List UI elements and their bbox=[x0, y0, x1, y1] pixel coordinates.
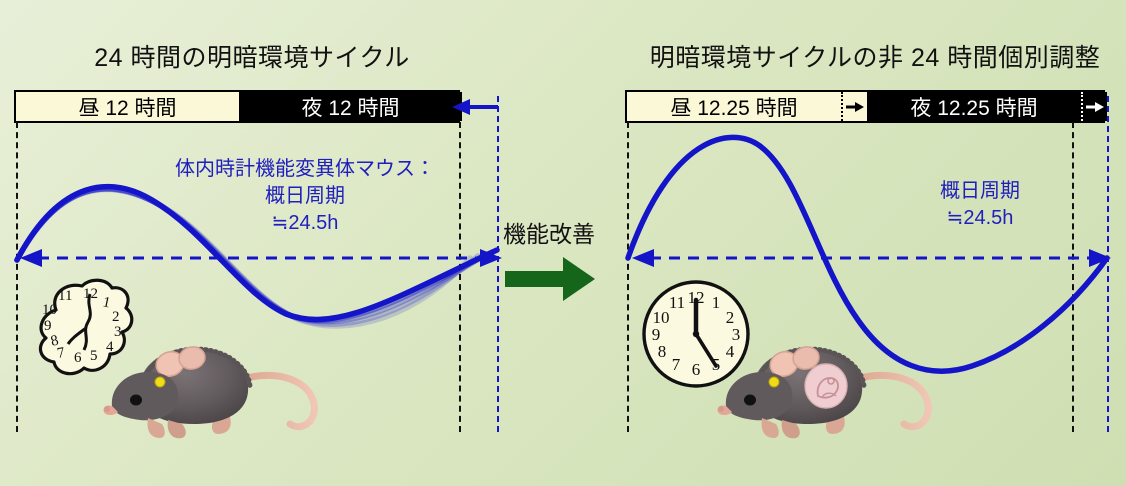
svg-text:9: 9 bbox=[44, 318, 52, 334]
right-light-dark-bar: 昼 12.25 時間 夜 12.25 時間 bbox=[625, 90, 1105, 123]
right-bar-day-end-arrow-icon bbox=[845, 101, 865, 113]
svg-text:11: 11 bbox=[669, 293, 685, 312]
right-bar-day-segment: 昼 12.25 時間 bbox=[627, 92, 867, 121]
left-bar-end-arrow-icon bbox=[450, 96, 502, 118]
svg-text:8: 8 bbox=[658, 342, 667, 361]
svg-text:9: 9 bbox=[652, 325, 661, 344]
left-period-arrow bbox=[10, 246, 510, 270]
improvement-arrow-icon bbox=[505, 255, 597, 303]
diagram-canvas: 24 時間の明暗環境サイクル 昼 12 時間 夜 12 時間 bbox=[0, 0, 1126, 486]
right-period-arrow bbox=[622, 246, 1122, 270]
left-annotation: 体内時計機能変異体マウス： 概日周期 ≒24.5h bbox=[160, 156, 450, 237]
svg-text:1: 1 bbox=[712, 293, 721, 312]
right-bar-day-label: 昼 12.25 時間 bbox=[670, 92, 797, 122]
left-annotation-line3: ≒24.5h bbox=[160, 210, 450, 237]
left-light-dark-bar: 昼 12 時間 夜 12 時間 bbox=[14, 90, 460, 123]
svg-text:6: 6 bbox=[692, 360, 701, 379]
left-bar-day-label: 昼 12 時間 bbox=[78, 92, 176, 122]
left-bar-day-segment: 昼 12 時間 bbox=[16, 92, 239, 121]
right-annotation-line1: 概日周期 bbox=[880, 178, 1080, 205]
panel-left: 24 時間の明暗環境サイクル 昼 12 時間 夜 12 時間 bbox=[0, 0, 520, 486]
right-bar-night-divider bbox=[1081, 92, 1083, 121]
right-annotation-line2: ≒24.5h bbox=[880, 205, 1080, 232]
svg-text:7: 7 bbox=[672, 355, 681, 374]
panel-right: 明暗環境サイクルの非 24 時間個別調整 昼 12.25 時間 夜 12.25 … bbox=[600, 0, 1126, 486]
right-bar-night-end-arrow-icon bbox=[1085, 101, 1105, 113]
right-bar-day-divider bbox=[841, 92, 843, 121]
panel-right-title: 明暗環境サイクルの非 24 時間個別調整 bbox=[612, 38, 1126, 74]
right-mouse-illustration bbox=[710, 320, 950, 448]
left-mouse-illustration bbox=[96, 320, 336, 448]
left-bar-night-segment: 夜 12 時間 bbox=[239, 92, 462, 121]
right-annotation: 概日周期 ≒24.5h bbox=[880, 178, 1080, 232]
svg-text:10: 10 bbox=[42, 302, 57, 318]
svg-text:11: 11 bbox=[58, 288, 72, 304]
left-annotation-line1: 体内時計機能変異体マウス： bbox=[160, 156, 450, 183]
right-mouse-badge-icon bbox=[805, 364, 847, 408]
right-bar-night-label: 夜 12.25 時間 bbox=[910, 92, 1037, 122]
svg-text:10: 10 bbox=[653, 308, 670, 327]
svg-text:12: 12 bbox=[83, 286, 98, 302]
left-bar-night-label: 夜 12 時間 bbox=[301, 92, 399, 122]
improvement-transition: 機能改善 bbox=[497, 215, 607, 315]
left-annotation-line2: 概日周期 bbox=[160, 183, 450, 210]
panel-left-title: 24 時間の明暗環境サイクル bbox=[0, 38, 512, 74]
right-bar-night-segment: 夜 12.25 時間 bbox=[867, 92, 1107, 121]
improvement-label: 機能改善 bbox=[503, 215, 595, 249]
svg-text:6: 6 bbox=[74, 350, 82, 366]
